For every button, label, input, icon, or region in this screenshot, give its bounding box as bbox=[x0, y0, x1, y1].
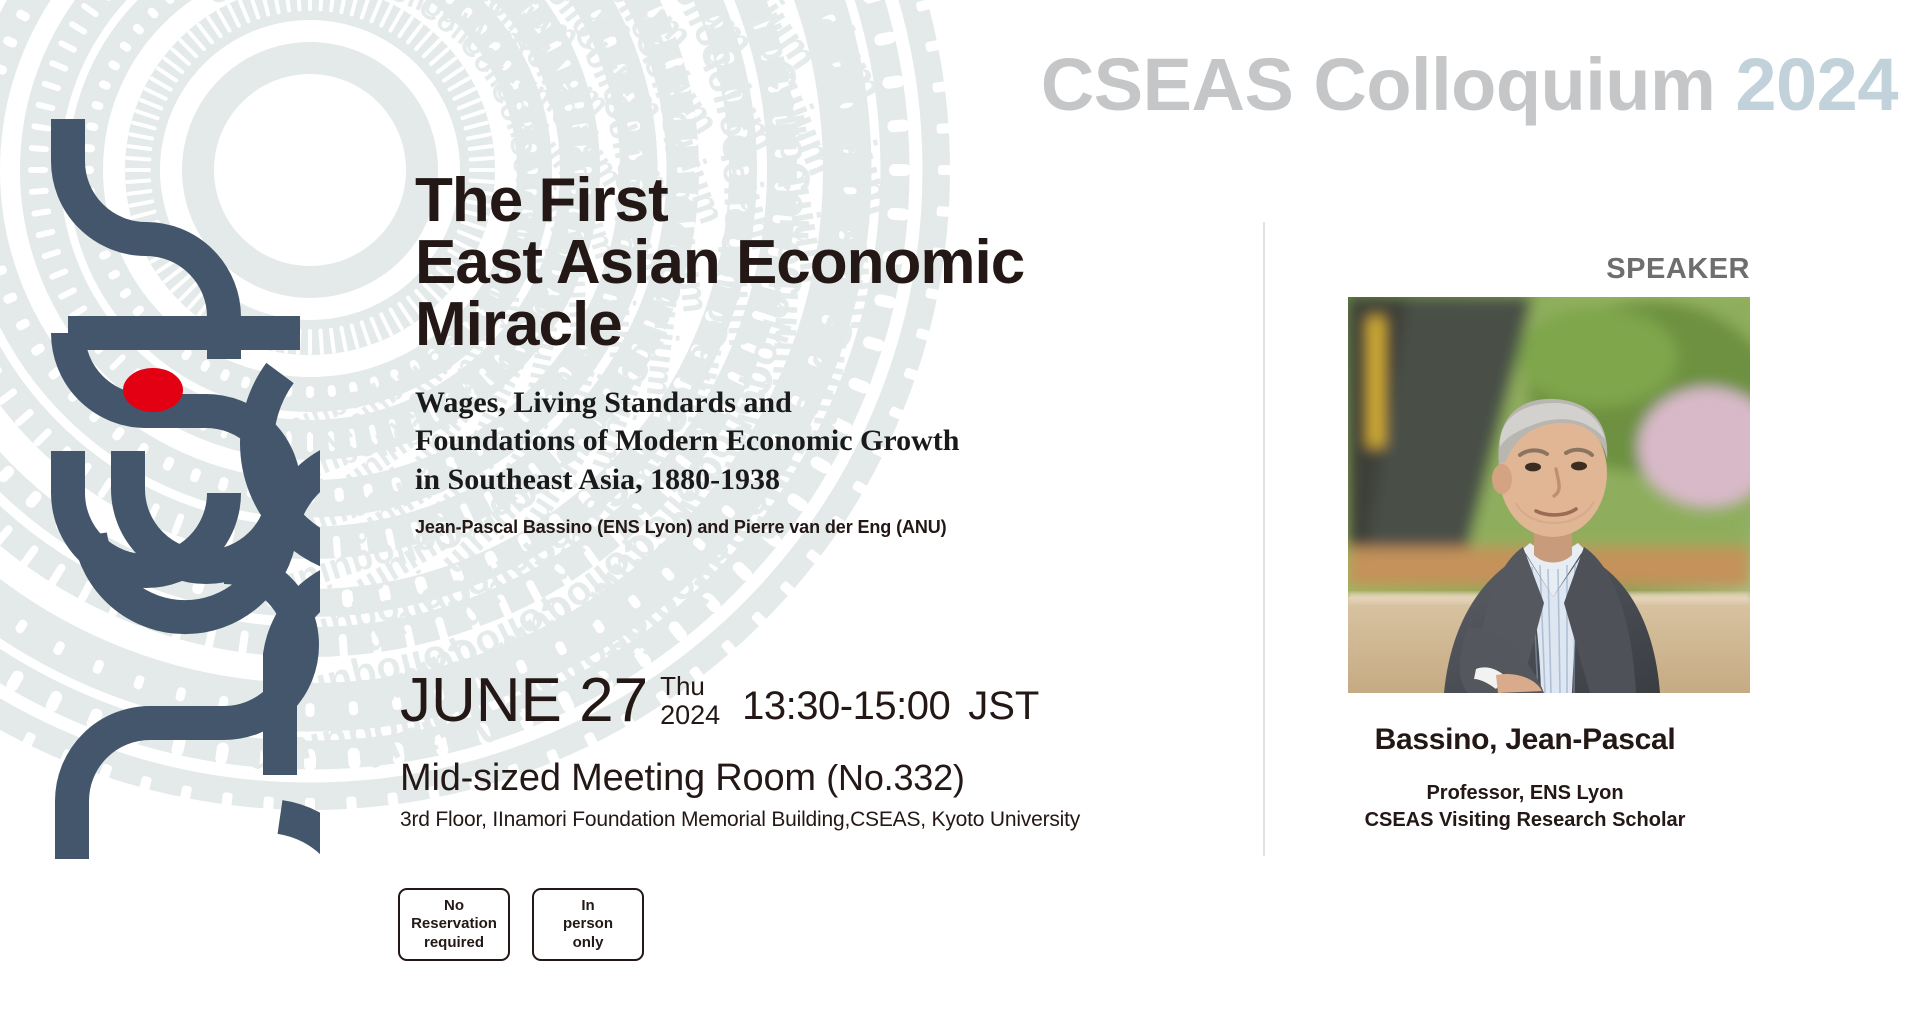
watermark-word: Colloquium bbox=[719, 0, 845, 182]
watermark-word: Colloquium bbox=[521, 0, 671, 129]
badge-2-line-3: only bbox=[544, 934, 632, 952]
event-address: 3rd Floor, IInamori Foundation Memorial … bbox=[400, 808, 1080, 832]
event-timezone: JST bbox=[968, 684, 1039, 729]
talk-subtitle: Wages, Living Standards and Foundations … bbox=[415, 384, 1255, 499]
subtitle-line-2: Foundations of Modern Economic Growth bbox=[415, 422, 1255, 460]
badge-2-line-2: person bbox=[544, 915, 632, 933]
watermark-word: Colloquium bbox=[526, 0, 700, 56]
talk-info: The First East Asian Economic Miracle Wa… bbox=[415, 170, 1255, 538]
watermark-word: Colloquium bbox=[466, 0, 642, 53]
watermark-word: Colloquium bbox=[583, 0, 728, 142]
watermark-word: Colloquium bbox=[203, 0, 373, 13]
badge-no-reservation: No Reservation required bbox=[398, 888, 510, 961]
watermark-word: Colloquium bbox=[463, 0, 618, 122]
talk-authors: Jean-Pascal Bassino (ENS Lyon) and Pierr… bbox=[415, 517, 1255, 538]
title-line-1: The First bbox=[415, 170, 1255, 232]
cseas-logo-svg bbox=[20, 95, 320, 915]
watermark-word: Colloquium bbox=[663, 0, 826, 78]
watermark-word: Colloquium bbox=[411, 0, 586, 56]
poster-header: CSEAS Colloquium 2024 bbox=[1041, 48, 1898, 122]
watermark-word: Colloquium bbox=[650, 0, 785, 159]
speaker-affiliation: Professor, ENS Lyon CSEAS Visiting Resea… bbox=[1300, 780, 1750, 834]
badge-in-person-only: In person only bbox=[532, 888, 644, 961]
header-year: 2024 bbox=[1735, 43, 1898, 126]
watermark-word: Colloquium bbox=[314, 0, 487, 12]
event-year: 2024 bbox=[660, 701, 720, 729]
venue-room-number: (No.332) bbox=[826, 757, 964, 798]
event-date: JUNE 27 bbox=[400, 672, 648, 731]
speaker-photo bbox=[1348, 297, 1750, 693]
badge-1-line-2: Reservation bbox=[410, 915, 498, 933]
watermark-word: Colloquium bbox=[355, 525, 563, 665]
event-datetime: JUNE 27 Thu 2024 13:30-15:00 JST bbox=[400, 672, 1039, 731]
watermark-word: Colloquium bbox=[365, 0, 535, 62]
talk-title: The First East Asian Economic Miracle bbox=[415, 170, 1255, 356]
subtitle-line-1: Wages, Living Standards and bbox=[415, 384, 1255, 422]
vertical-divider bbox=[1263, 222, 1265, 856]
watermark-word: Colloquium bbox=[741, 0, 894, 108]
event-day-of-week: Thu bbox=[660, 673, 720, 700]
title-line-3: Miracle bbox=[415, 294, 1255, 356]
subtitle-line-3: in Southeast Asia, 1880-1938 bbox=[415, 461, 1255, 499]
badge-1-line-3: required bbox=[410, 934, 498, 952]
watermark-word: Colloquium bbox=[593, 0, 763, 64]
title-line-2: East Asian Economic bbox=[415, 232, 1255, 294]
header-title: CSEAS Colloquium bbox=[1041, 43, 1715, 126]
speaker-portrait-illustration bbox=[1348, 297, 1750, 693]
badge-2-line-1: In bbox=[544, 897, 632, 915]
speaker-label: SPEAKER bbox=[1300, 253, 1750, 286]
badge-1-line-1: No bbox=[410, 897, 498, 915]
event-venue: Mid-sized Meeting Room (No.332) bbox=[400, 757, 965, 800]
watermark-word: Colloquium bbox=[452, 28, 583, 183]
event-badges: No Reservation required In person only bbox=[398, 888, 644, 961]
speaker-affiliation-line-1: Professor, ENS Lyon bbox=[1300, 780, 1750, 807]
watermark-word: Colloquium bbox=[411, 0, 567, 120]
venue-name: Mid-sized Meeting Room bbox=[400, 757, 816, 799]
logo-red-dot bbox=[123, 368, 183, 412]
event-time: 13:30-15:00 bbox=[742, 684, 950, 729]
event-date-stack: Thu 2024 bbox=[660, 673, 720, 729]
speaker-affiliation-line-2: CSEAS Visiting Research Scholar bbox=[1300, 807, 1750, 834]
poster-root: ColloquiumColloquiumColloquiumColloquium… bbox=[0, 0, 1920, 1017]
cseas-logo-mark bbox=[20, 95, 320, 915]
speaker-name: Bassino, Jean-Pascal bbox=[1300, 723, 1750, 757]
